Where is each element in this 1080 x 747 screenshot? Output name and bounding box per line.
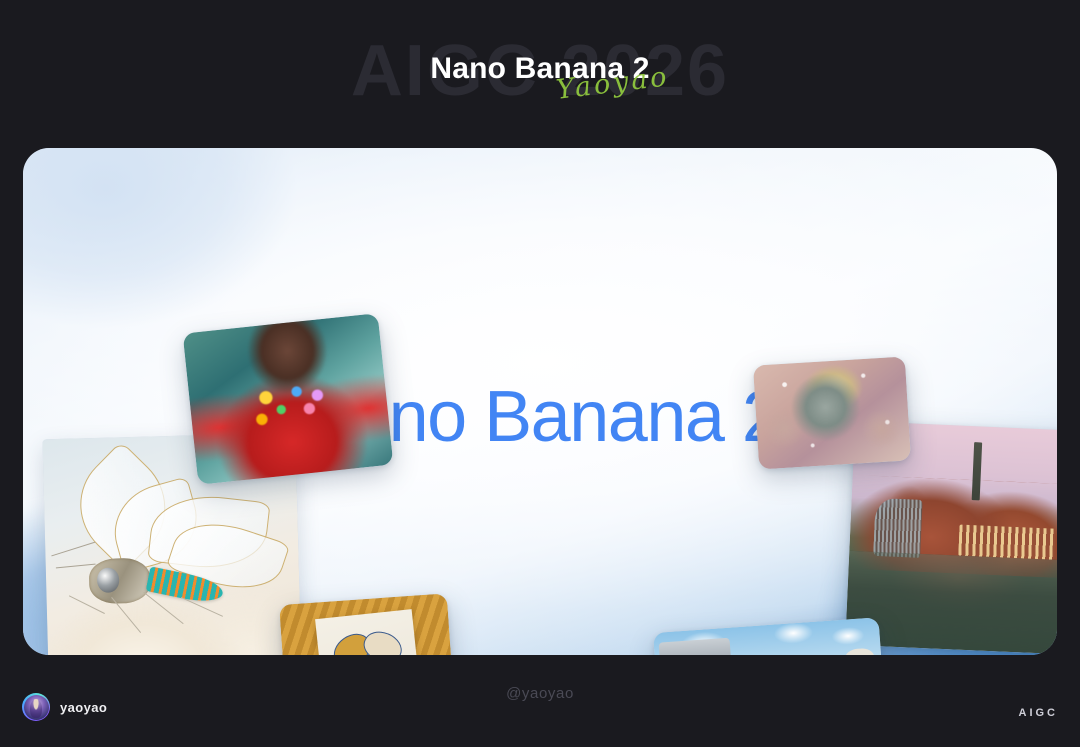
dragonfly-antenna [51,542,95,557]
page-root: AIGC 2026 Nano Banana 2 Yaoyao [0,0,1080,747]
greeting-paper: So grateful for your wonderful friendshi… [315,609,424,655]
showcase-card: So grateful for your wonderful friendshi… [23,148,1057,655]
brand-tag: AIGC [1019,707,1059,719]
hands-heart-icon [321,619,413,655]
footer: yaoyao @yaoyao AIGC [0,655,1080,747]
architecture-window-band [959,524,1055,559]
handle-watermark: @yaoyao [0,685,1080,702]
greeting-scene: So grateful for your wonderful friendshi… [279,593,457,655]
image-tile-greeting-card[interactable]: So grateful for your wonderful friendshi… [279,593,457,655]
header: AIGC 2026 Nano Banana 2 Yaoyao [0,0,1080,148]
dancer-scene [183,313,394,485]
farm-goat [844,647,875,655]
architecture-glass-facade [873,498,923,558]
beetle-scene [753,356,911,469]
dragonfly-eye [96,567,119,592]
dragonfly-antenna [56,564,96,569]
architecture-chimney [972,442,982,501]
page-title: Nano Banana 2 [0,52,1080,86]
image-tile-dancer[interactable] [183,313,394,485]
image-tile-beetle[interactable] [753,356,911,469]
